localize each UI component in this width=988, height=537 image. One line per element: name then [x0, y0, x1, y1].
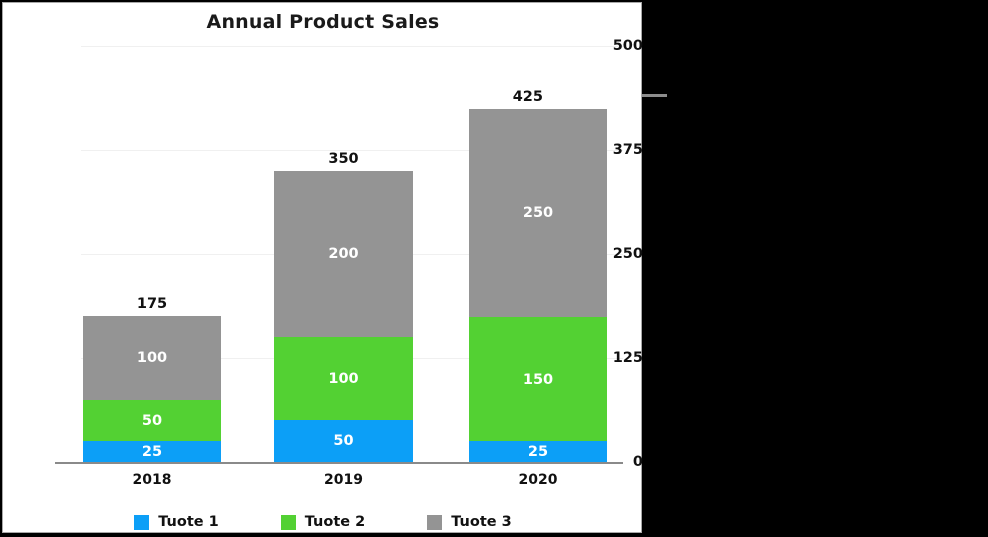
bar-segment-2020-tuote-1[interactable]: 25: [469, 441, 607, 462]
legend-item-tuote-2[interactable]: Tuote 2: [281, 514, 366, 530]
bar-segment-2020-tuote-3[interactable]: 250: [469, 109, 607, 317]
bar-group-2020[interactable]: 250 150 25: [469, 109, 607, 462]
bar-segment-label: 50: [274, 434, 413, 449]
bar-segment-2018-tuote-3[interactable]: 100: [83, 316, 221, 400]
legend-swatch-icon: [134, 515, 149, 530]
bar-segment-label: 50: [83, 414, 221, 429]
bar-group-2019[interactable]: 200 100 50: [274, 171, 413, 462]
bar-segment-label: 100: [83, 351, 221, 366]
screen-root: Annual Product Sales 500 375 250 125 0 1…: [0, 0, 988, 537]
x-tick-label-2020: 2020: [469, 472, 607, 488]
bar-total-label-2019: 350: [274, 151, 413, 167]
x-tick-label-2018: 2018: [83, 472, 221, 488]
bar-total-label-2018: 175: [83, 296, 221, 312]
bar-segment-2019-tuote-3[interactable]: 200: [274, 171, 413, 337]
bar-segment-2018-tuote-2[interactable]: 50: [83, 400, 221, 441]
bar-segment-2020-tuote-2[interactable]: 150: [469, 317, 607, 441]
legend-item-tuote-1[interactable]: Tuote 1: [134, 514, 219, 530]
bar-segment-label: 25: [83, 445, 221, 460]
y-tick-label-500: 500: [591, 38, 643, 54]
bar-segment-2019-tuote-2[interactable]: 100: [274, 337, 413, 420]
x-axis-line: [55, 462, 623, 464]
bar-segment-label: 250: [469, 206, 607, 221]
bar-segment-label: 150: [469, 373, 607, 388]
plot-area[interactable]: 500 375 250 125 0 100 50 25 175: [3, 3, 643, 534]
chart-panel[interactable]: Annual Product Sales 500 375 250 125 0 1…: [2, 2, 642, 533]
legend-swatch-icon: [427, 515, 442, 530]
bar-segment-2018-tuote-1[interactable]: 25: [83, 441, 221, 462]
bar-total-label-2020: 425: [459, 89, 543, 105]
legend-item-label: Tuote 1: [158, 514, 219, 530]
bar-segment-label: 100: [274, 372, 413, 387]
legend-swatch-icon: [281, 515, 296, 530]
gridline-500: [81, 46, 623, 47]
chart-legend: Tuote 1 Tuote 2 Tuote 3: [3, 514, 643, 530]
legend-item-label: Tuote 2: [305, 514, 366, 530]
bar-segment-label: 200: [274, 247, 413, 262]
legend-item-tuote-3[interactable]: Tuote 3: [427, 514, 512, 530]
bar-segment-label: 25: [469, 445, 607, 460]
bar-segment-2019-tuote-1[interactable]: 50: [274, 420, 413, 462]
legend-item-label: Tuote 3: [451, 514, 512, 530]
x-tick-label-2019: 2019: [274, 472, 413, 488]
bar-group-2018[interactable]: 100 50 25: [83, 316, 221, 462]
